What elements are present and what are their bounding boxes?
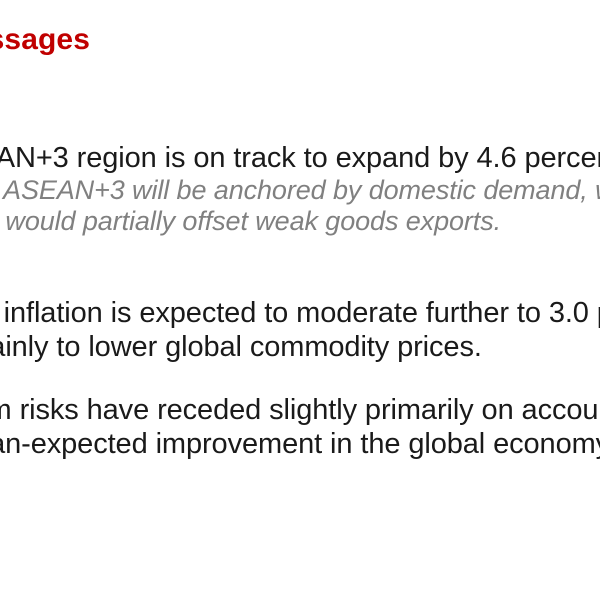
- bullet-block-2: •Headline inflation is expected to moder…: [0, 296, 600, 364]
- bullet-subline: Growth in ASEAN+3 will be anchored by do…: [0, 175, 600, 206]
- bullet-block-3: •Near-term risks have receded slightly p…: [0, 393, 600, 461]
- bullet-line: •The ASEAN+3 region is on track to expan…: [0, 141, 600, 175]
- bullet-block-1: •The ASEAN+3 region is on track to expan…: [0, 141, 600, 237]
- bullet-text: Headline inflation is expected to modera…: [0, 297, 600, 329]
- bullet-line: •Near-term risks have receded slightly p…: [0, 393, 600, 427]
- bullet-line: •Headline inflation is expected to moder…: [0, 296, 600, 330]
- page-title: Key Messages: [0, 22, 600, 58]
- bullet-line-continued: better-than-expected improvement in the …: [0, 427, 600, 461]
- bullet-subline: in tourism would partially offset weak g…: [0, 206, 600, 237]
- presentation-slide: Key Messages •The ASEAN+3 region is on t…: [0, 0, 600, 600]
- bullet-text: Near-term risks have receded slightly pr…: [0, 394, 600, 426]
- bullet-line-continued: owing mainly to lower global commodity p…: [0, 330, 600, 364]
- bullet-text: The ASEAN+3 region is on track to expand…: [0, 142, 600, 174]
